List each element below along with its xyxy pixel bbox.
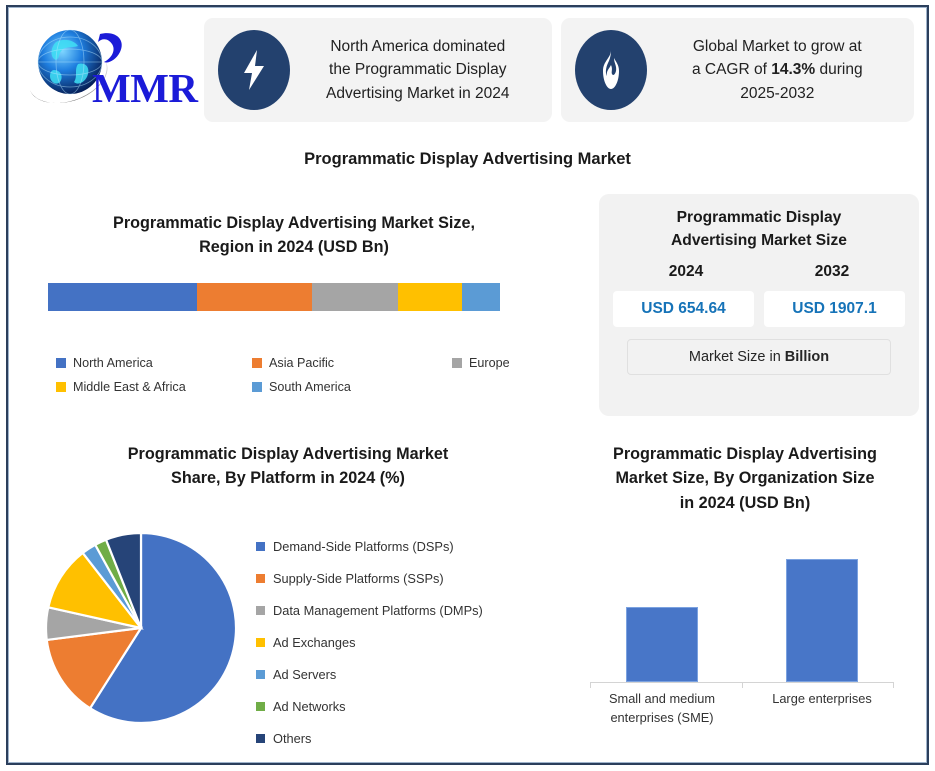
region-stacked-bar	[48, 283, 500, 311]
share-legend-label: Ad Networks	[273, 699, 346, 714]
region-legend-label: Europe	[469, 356, 510, 370]
region-legend-item-middle-east-africa: Middle East & Africa	[56, 380, 252, 394]
legend-swatch	[256, 670, 265, 679]
badge-region-line-2: the Programmatic Display	[329, 61, 506, 78]
brand-logo-text: MMR	[92, 64, 198, 112]
lightning-bolt-icon	[218, 30, 290, 110]
region-bar-segment	[197, 283, 312, 311]
region-legend-label: South America	[269, 380, 351, 394]
market-size-title-line-1: Programmatic Display	[677, 209, 842, 226]
badge-cagr-line-2-pre: a CAGR of	[692, 61, 771, 78]
share-legend-item-dmp: Data Management Platforms (DMPs)	[256, 594, 556, 626]
legend-swatch	[252, 358, 262, 368]
market-size-unit-pre: Market Size in	[689, 349, 785, 365]
market-size-panel: Programmatic Display Advertising Market …	[599, 194, 919, 416]
share-chart-title-line-1: Programmatic Display Advertising Market	[128, 445, 449, 463]
region-bar-segment	[312, 283, 398, 311]
org-chart-label-sme: Small and medium enterprises (SME)	[582, 690, 742, 727]
legend-swatch	[256, 702, 265, 711]
badge-cagr-value: 14.3%	[771, 61, 815, 78]
region-legend-label: Asia Pacific	[269, 356, 334, 370]
legend-swatch	[252, 382, 262, 392]
org-chart-title-line-2: Market Size, By Organization Size	[615, 469, 874, 487]
org-label-line-1: Large enterprises	[772, 691, 872, 706]
region-chart-title-line-1: Programmatic Display Advertising Market …	[113, 214, 475, 232]
org-chart-title: Programmatic Display Advertising Market …	[570, 442, 920, 515]
badge-region-line-3: Advertising Market in 2024	[326, 85, 510, 102]
share-legend-item-ad-servers: Ad Servers	[256, 658, 556, 690]
legend-swatch	[256, 734, 265, 743]
share-legend-item-dsp: Demand-Side Platforms (DSPs)	[256, 530, 556, 562]
region-legend-label: Middle East & Africa	[73, 380, 186, 394]
header-badge-region: North America dominated the Programmatic…	[204, 18, 552, 122]
org-chart-title-line-3: in 2024 (USD Bn)	[680, 494, 810, 512]
org-chart-plot-area	[582, 540, 902, 682]
share-legend-label: Others	[273, 731, 311, 746]
region-legend-label: North America	[73, 356, 153, 370]
page-title: Programmatic Display Advertising Market	[0, 150, 935, 169]
brand-logo: MMR	[14, 20, 196, 120]
legend-swatch	[256, 574, 265, 583]
infographic-page: MMR North America dominated the Programm…	[0, 0, 935, 771]
region-legend-item-south-america: South America	[252, 380, 452, 394]
share-legend-item-ad-networks: Ad Networks	[256, 690, 556, 722]
share-legend-label: Supply-Side Platforms (SSPs)	[273, 571, 444, 586]
share-legend-item-others: Others	[256, 722, 556, 754]
region-legend-item-north-america: North America	[56, 356, 252, 370]
badge-region-line-1: North America dominated	[330, 38, 505, 55]
org-chart-axis-tick	[590, 682, 591, 688]
org-label-line-1: Small and medium	[609, 691, 715, 706]
region-legend-item-europe: Europe	[452, 356, 510, 370]
market-size-year-end: 2032	[759, 263, 905, 281]
region-legend-item-asia-pacific: Asia Pacific	[252, 356, 452, 370]
flame-icon	[575, 30, 647, 110]
share-legend-label: Ad Servers	[273, 667, 336, 682]
market-size-unit-strong: Billion	[785, 349, 829, 365]
org-label-line-2: enterprises (SME)	[610, 710, 713, 725]
organization-size-bar-chart: Small and medium enterprises (SME) Large…	[582, 540, 902, 740]
region-chart-title-line-2: Region in 2024 (USD Bn)	[199, 238, 389, 256]
market-size-panel-title: Programmatic Display Advertising Market …	[613, 206, 905, 253]
org-chart-axis-tick	[893, 682, 894, 688]
org-chart-bar	[626, 607, 698, 682]
badge-cagr-line-1: Global Market to grow at	[693, 38, 862, 55]
market-size-years: 2024 2032	[613, 263, 905, 281]
badge-cagr-line-2-post: during	[815, 61, 862, 78]
header-badge-region-text: North America dominated the Programmatic…	[300, 35, 540, 106]
org-chart-category-labels: Small and medium enterprises (SME) Large…	[582, 690, 902, 727]
legend-swatch	[256, 542, 265, 551]
header-badge-cagr-text: Global Market to grow at a CAGR of 14.3%…	[657, 35, 902, 106]
org-chart-bar	[786, 559, 858, 682]
market-size-year-start: 2024	[613, 263, 759, 281]
header: MMR North America dominated the Programm…	[14, 14, 914, 126]
legend-swatch	[256, 638, 265, 647]
region-chart-title: Programmatic Display Advertising Market …	[34, 211, 554, 260]
platform-share-pie-chart	[46, 522, 242, 734]
org-chart-label-large: Large enterprises	[742, 690, 902, 727]
share-chart-legend: Demand-Side Platforms (DSPs) Supply-Side…	[256, 530, 556, 754]
market-size-value-2024: USD 654.64	[613, 291, 754, 327]
org-chart-axis-tick	[742, 682, 743, 688]
share-legend-label: Data Management Platforms (DMPs)	[273, 603, 483, 618]
legend-swatch	[452, 358, 462, 368]
pie-svg	[46, 522, 242, 734]
legend-swatch	[56, 382, 66, 392]
market-size-title-line-2: Advertising Market Size	[671, 232, 847, 249]
org-chart-title-line-1: Programmatic Display Advertising	[613, 445, 877, 463]
share-legend-label: Demand-Side Platforms (DSPs)	[273, 539, 454, 554]
share-chart-title: Programmatic Display Advertising Market …	[28, 442, 548, 491]
badge-cagr-line-3: 2025-2032	[740, 85, 814, 102]
share-legend-item-ad-exchanges: Ad Exchanges	[256, 626, 556, 658]
market-size-unit-note: Market Size in Billion	[627, 339, 891, 375]
market-size-value-2032: USD 1907.1	[764, 291, 905, 327]
legend-swatch	[56, 358, 66, 368]
region-legend-row-1: North America Asia Pacific Europe	[56, 356, 526, 370]
share-chart-title-line-2: Share, By Platform in 2024 (%)	[171, 469, 405, 487]
share-legend-label: Ad Exchanges	[273, 635, 356, 650]
region-bar-segment	[398, 283, 461, 311]
share-legend-item-ssp: Supply-Side Platforms (SSPs)	[256, 562, 556, 594]
region-bar-segment	[48, 283, 197, 311]
legend-swatch	[256, 606, 265, 615]
market-size-values: USD 654.64 USD 1907.1	[613, 291, 905, 327]
region-legend-row-2: Middle East & Africa South America	[56, 380, 526, 394]
header-badge-cagr: Global Market to grow at a CAGR of 14.3%…	[561, 18, 914, 122]
region-bar-segment	[462, 283, 500, 311]
region-chart-legend: North America Asia Pacific Europe Middle…	[56, 356, 526, 404]
